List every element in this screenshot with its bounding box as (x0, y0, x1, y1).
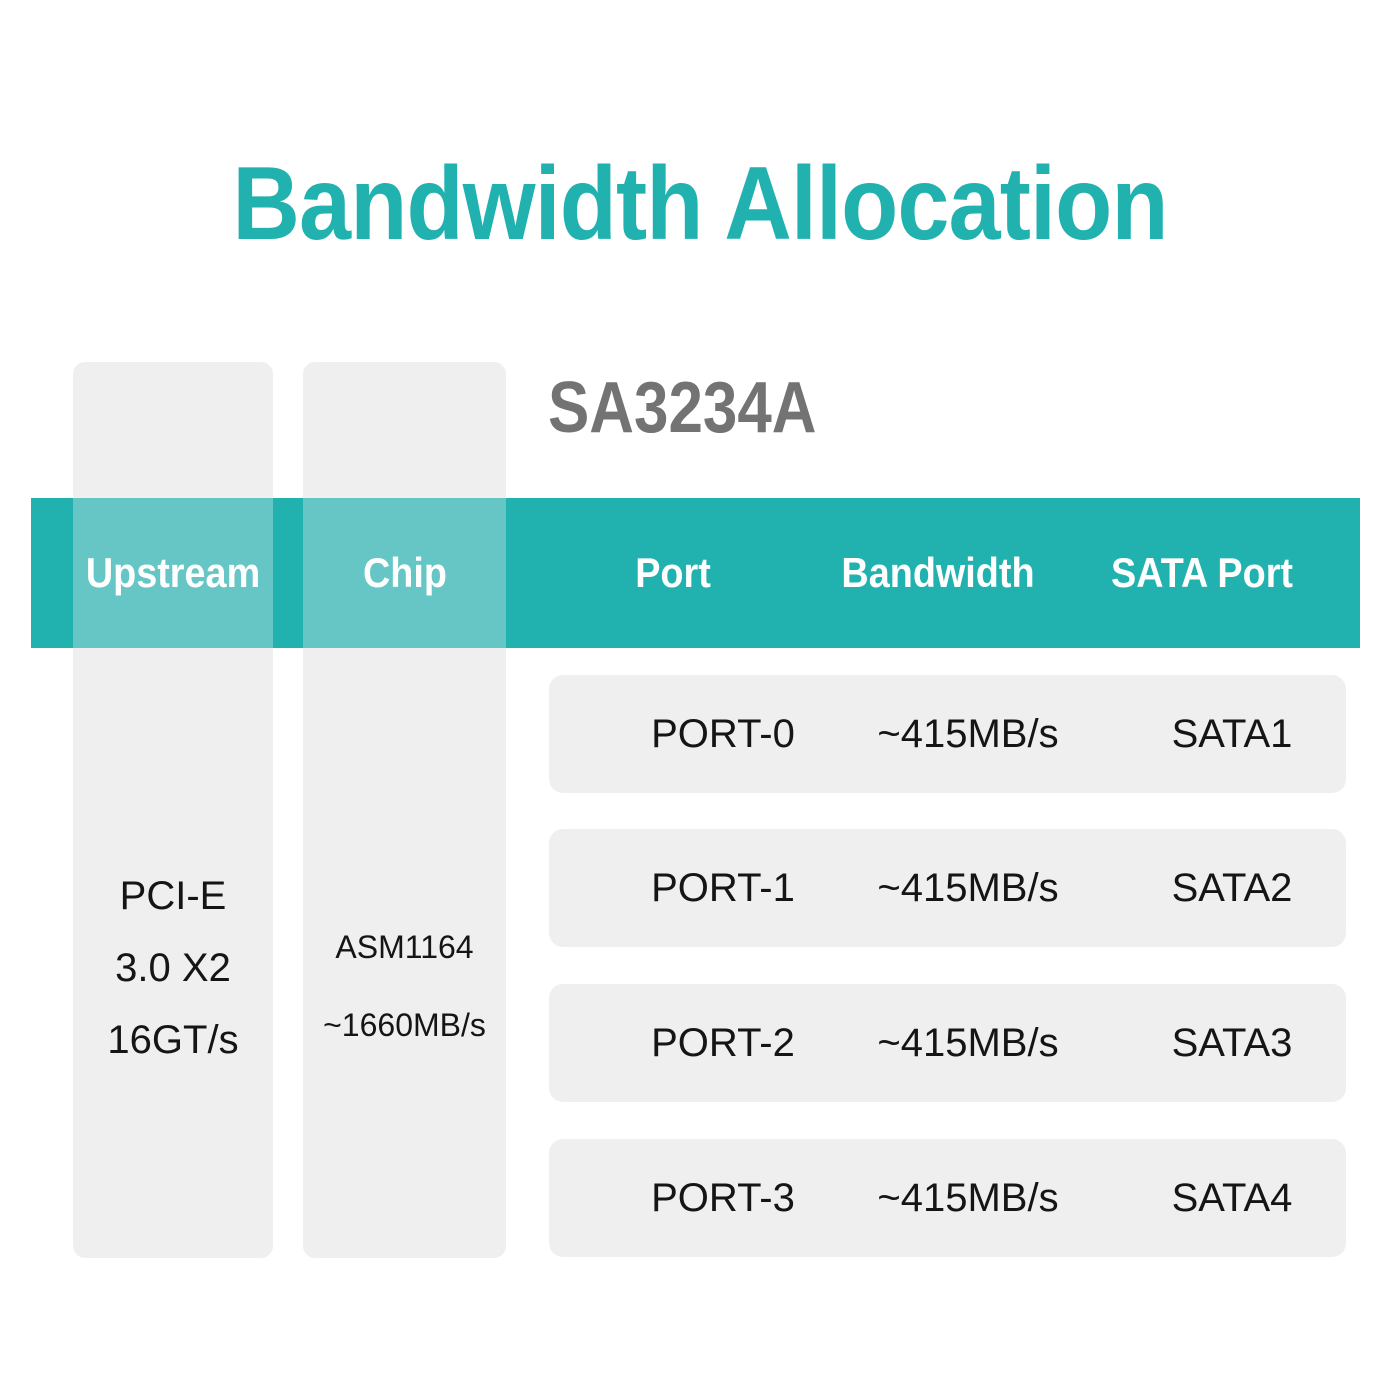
cell-bandwidth: ~415MB/s (818, 829, 1118, 947)
cell-sata-port: SATA2 (1082, 829, 1382, 947)
upstream-line-2: 3.0 X2 (73, 932, 273, 1004)
chip-line-1: ASM1164 (303, 908, 506, 986)
cell-sata-port: SATA3 (1082, 984, 1382, 1102)
cell-sata-port: SATA4 (1082, 1139, 1382, 1257)
chip-column-value: ASM1164 ~1660MB/s (303, 908, 506, 1064)
table-row: PORT-2 ~415MB/s SATA3 (549, 984, 1346, 1102)
table-row: PORT-1 ~415MB/s SATA2 (549, 829, 1346, 947)
column-header-chip: Chip (298, 552, 512, 594)
bandwidth-allocation-infographic: Bandwidth Allocation SA3234A Upstream Ch… (0, 0, 1400, 1400)
upstream-line-1: PCI-E (73, 860, 273, 932)
table-row: PORT-3 ~415MB/s SATA4 (549, 1139, 1346, 1257)
chip-column-panel (303, 362, 506, 1258)
cell-bandwidth: ~415MB/s (818, 1139, 1118, 1257)
cell-bandwidth: ~415MB/s (818, 675, 1118, 793)
upstream-column-panel (73, 362, 273, 1258)
upstream-line-3: 16GT/s (73, 1004, 273, 1076)
upstream-column-value: PCI-E 3.0 X2 16GT/s (73, 860, 273, 1076)
cell-bandwidth: ~415MB/s (818, 984, 1118, 1102)
column-header-bandwidth: Bandwidth (830, 552, 1046, 594)
page-title: Bandwidth Allocation (70, 148, 1330, 260)
chip-line-2: ~1660MB/s (303, 986, 506, 1064)
table-row: PORT-0 ~415MB/s SATA1 (549, 675, 1346, 793)
chip-model-label: SA3234A (548, 368, 816, 448)
column-header-upstream: Upstream (65, 552, 281, 594)
column-header-port: Port (583, 552, 763, 594)
cell-sata-port: SATA1 (1082, 675, 1382, 793)
column-header-sata-port: SATA Port (1094, 552, 1310, 594)
